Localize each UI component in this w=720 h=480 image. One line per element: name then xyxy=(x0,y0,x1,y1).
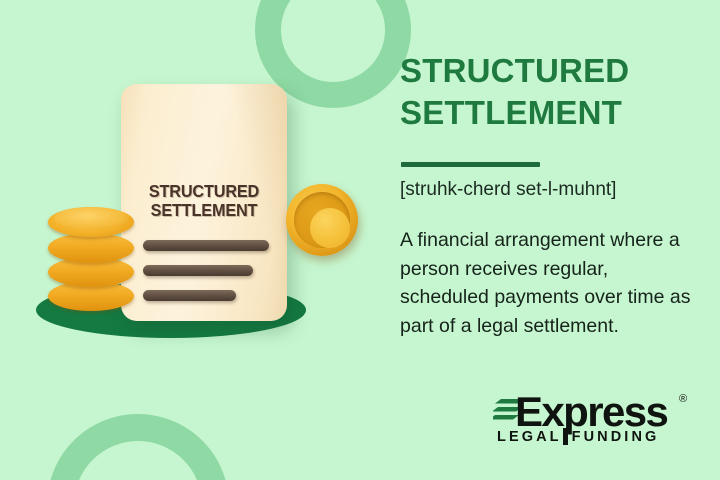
pronunciation-text: [struhk-cherd set-l-muhnt] xyxy=(400,178,700,202)
express-legal-funding-logo: Express ® LEGAL FUNDING xyxy=(493,390,693,452)
logo-tagline: LEGAL FUNDING xyxy=(497,428,693,445)
settlement-illustration: STRUCTURED SETTLEMENT xyxy=(0,0,390,480)
term-title-line-2: SETTLEMENT xyxy=(400,92,700,134)
term-title-line-1: STRUCTURED xyxy=(400,52,629,89)
settlement-document-illustration: STRUCTURED SETTLEMENT xyxy=(121,84,287,321)
seal-ring xyxy=(294,192,350,248)
gold-wax-seal-icon xyxy=(286,184,358,256)
seal-core xyxy=(310,208,350,248)
coin-stack-icon xyxy=(48,203,134,315)
logo-trademark-symbol: ® xyxy=(679,394,687,405)
logo-tagline-divider-bar xyxy=(563,428,568,445)
title-divider xyxy=(401,162,540,167)
definition-text-column: STRUCTURED SETTLEMENT [struhk-cherd set-… xyxy=(400,0,700,480)
document-heading-line-2: SETTLEMENT xyxy=(127,201,281,220)
logo-tagline-right: FUNDING xyxy=(572,429,660,445)
document-heading: STRUCTURED SETTLEMENT xyxy=(127,182,281,220)
definition-graphic-card: STRUCTURED SETTLEMENT STRUCTURED SETTLEM… xyxy=(0,0,720,480)
term-title: STRUCTURED SETTLEMENT xyxy=(400,50,700,134)
document-text-bar xyxy=(143,240,269,251)
coin-top-face xyxy=(54,207,128,229)
document-heading-line-1: STRUCTURED xyxy=(149,181,259,201)
coin xyxy=(48,233,134,263)
definition-text: A financial arrangement where a person r… xyxy=(400,226,702,340)
coin xyxy=(48,207,134,237)
document-text-bar xyxy=(143,290,236,301)
logo-tagline-left: LEGAL xyxy=(497,429,562,445)
document-text-bar xyxy=(143,265,253,276)
